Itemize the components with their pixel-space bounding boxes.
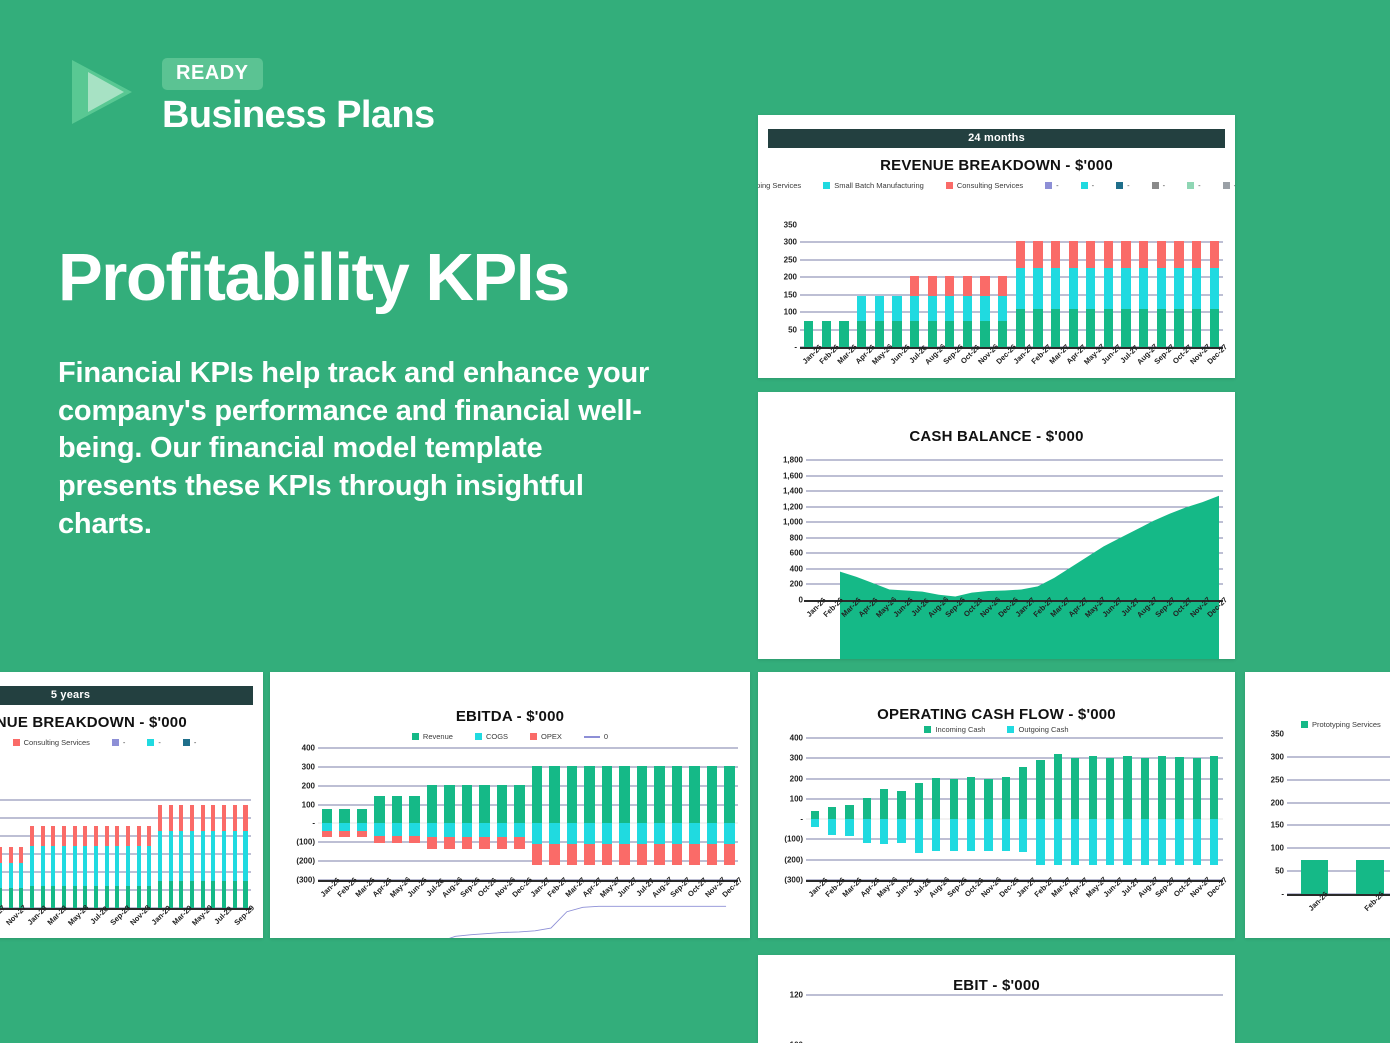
y-axis: -50100150200250300350: [766, 225, 800, 347]
bar-group[interactable]: [1122, 995, 1142, 1043]
bar-segment: [222, 881, 226, 908]
bar-group[interactable]: [1287, 734, 1342, 894]
y-axis-tick: 400: [790, 734, 803, 743]
bar-segment: [839, 321, 848, 347]
bar-segment: [880, 819, 888, 844]
brand-logo-block: READY Business Plans: [72, 58, 435, 136]
x-axis-tick: Aug-26: [926, 602, 943, 642]
bar-plot-region: [318, 748, 738, 880]
x-axis-tick: May-29: [189, 910, 210, 938]
bar-segment: [828, 819, 836, 835]
bar-segment: [863, 819, 871, 843]
bar-segment: [137, 886, 141, 908]
x-axis-tick: Aug-27: [1135, 349, 1153, 378]
bar-segment: [322, 823, 333, 830]
x-axis-tick: Mar-27: [563, 882, 581, 922]
bar-segment: [811, 819, 819, 827]
bar-group[interactable]: [1001, 995, 1021, 1043]
y-axis-tick: -: [1281, 890, 1284, 899]
bar-group[interactable]: [208, 782, 219, 908]
legend-label: 0: [604, 732, 608, 741]
bar-group[interactable]: [27, 782, 38, 908]
x-axis-tick: Oct-26: [961, 602, 978, 642]
x-axis-labels: Jan-26Feb-26Mar-26Apr-26May-26Jun-26Jul-…: [806, 882, 1223, 922]
bar-group[interactable]: [906, 225, 924, 347]
bar-group[interactable]: [1154, 738, 1171, 880]
bar-group[interactable]: [923, 225, 941, 347]
x-axis-tick: Aug-26: [923, 349, 941, 378]
y-axis-tick: 200: [784, 273, 797, 282]
x-axis-tick: Mar-26: [835, 349, 853, 378]
bar-segment: [1174, 241, 1183, 268]
bar-segment: [897, 819, 905, 843]
bar-segment: [915, 819, 923, 852]
brand-name: Business Plans: [162, 96, 435, 136]
bar-group[interactable]: [800, 225, 818, 347]
chart-card-cash-balance[interactable]: CASH BALANCE - $'000 02004006008001,0001…: [758, 392, 1235, 659]
bar-group[interactable]: [16, 782, 27, 908]
bar-group[interactable]: [1029, 225, 1047, 347]
bar-series: [806, 738, 1223, 880]
legend-item: Consulting Services: [13, 738, 90, 747]
bar-segment: [1106, 758, 1114, 819]
bar-segment: [190, 805, 194, 830]
bar-group[interactable]: [318, 748, 336, 880]
bar-segment: [51, 846, 55, 886]
bar-group[interactable]: [101, 782, 112, 908]
x-axis-tick: Feb-26: [823, 882, 840, 922]
x-axis-tick: Nov-28: [127, 910, 148, 938]
bar-segment: [880, 789, 888, 819]
bar-group[interactable]: [59, 782, 70, 908]
bar-group[interactable]: [1135, 225, 1153, 347]
bar-segment: [1089, 819, 1097, 865]
bar-group[interactable]: [1203, 995, 1223, 1043]
legend-swatch-icon: [1301, 721, 1308, 728]
chart-title-operating-cash-flow: OPERATING CASH FLOW - $'000: [758, 672, 1235, 723]
bar-group[interactable]: [841, 738, 858, 880]
y-axis-tick: 1,400: [783, 487, 803, 496]
bar-group[interactable]: [1049, 738, 1066, 880]
bar-group[interactable]: [219, 782, 230, 908]
legend-swatch-icon: [1152, 182, 1159, 189]
x-axis-tick: Nov-26: [493, 882, 511, 922]
bar-group[interactable]: [1062, 995, 1082, 1043]
legend-swatch-icon: [1187, 182, 1194, 189]
bar-group[interactable]: [1021, 995, 1041, 1043]
y-axis-tick: 100: [784, 308, 797, 317]
bar-group[interactable]: [1015, 738, 1032, 880]
bar-segment: [1139, 241, 1148, 268]
bar-group[interactable]: [1101, 738, 1118, 880]
bar-group[interactable]: [1188, 738, 1205, 880]
legend-label: -: [194, 738, 197, 747]
bar-group[interactable]: [48, 782, 59, 908]
legend-swatch-icon: [1116, 182, 1123, 189]
bar-group[interactable]: [155, 782, 166, 908]
bar-segment: [857, 321, 866, 347]
x-axis-tick: Dec-27: [1206, 882, 1223, 922]
x-axis-tick: Sep-27: [1153, 349, 1171, 378]
bar-group[interactable]: [1136, 738, 1153, 880]
legend-label: -: [1056, 181, 1059, 190]
x-axis-tick: May-26: [388, 882, 406, 922]
bar-segment: [51, 826, 55, 846]
x-axis-tick: May-27: [598, 882, 616, 922]
bar-segment: [1192, 309, 1201, 347]
legend-item: -: [1223, 181, 1235, 190]
bar-group[interactable]: [888, 225, 906, 347]
chart-card-prototyping-services-crop[interactable]: Prototyping Services -501001502002503003…: [1245, 672, 1390, 938]
bar-group[interactable]: [1170, 225, 1188, 347]
bar-group[interactable]: [1206, 738, 1223, 880]
bar-group[interactable]: [133, 782, 144, 908]
bar-group[interactable]: [981, 995, 1001, 1043]
bar-segment: [1104, 241, 1113, 268]
bar-group[interactable]: [1082, 225, 1100, 347]
bar-group[interactable]: [197, 782, 208, 908]
bar-segment: [980, 321, 989, 347]
chart-title-ebit: EBIT - $'000: [758, 955, 1235, 994]
y-axis-tick: 120: [790, 991, 803, 1000]
x-axis-tick: Apr-26: [853, 349, 871, 378]
bar-group[interactable]: [123, 782, 134, 908]
x-axis-tick: May-26: [871, 349, 889, 378]
bar-group[interactable]: [806, 738, 823, 880]
bar-group[interactable]: [941, 225, 959, 347]
y-axis-tick: 600: [790, 549, 803, 558]
bar-group[interactable]: [1188, 225, 1206, 347]
x-axis-tick: Aug-26: [441, 882, 459, 922]
bar-segment: [1158, 819, 1166, 865]
bar-group[interactable]: [945, 738, 962, 880]
y-axis-tick: (200): [296, 857, 315, 866]
x-axis-tick: Aug-27: [651, 882, 669, 922]
bar-plot-region: [806, 738, 1223, 880]
bar-group[interactable]: [112, 782, 123, 908]
bar-segment: [915, 783, 923, 819]
bar-group[interactable]: [1032, 738, 1049, 880]
bar-segment: [1210, 241, 1219, 268]
bar-segment: [1301, 860, 1329, 894]
bar-segment: [1157, 268, 1166, 310]
y-axis-tick: -: [794, 343, 797, 352]
bar-group[interactable]: [876, 738, 893, 880]
bar-group[interactable]: [5, 782, 16, 908]
legend-label: Consulting Services: [24, 738, 90, 747]
bar-group[interactable]: [871, 225, 889, 347]
legend-label: Small Batch Manufacturing: [834, 181, 924, 190]
bar-group[interactable]: [853, 225, 871, 347]
bar-segment: [875, 296, 884, 320]
bar-segment: [233, 831, 237, 881]
bar-segment: [94, 826, 98, 846]
bar-group[interactable]: [1047, 225, 1065, 347]
bar-segment: [857, 296, 866, 320]
bar-group[interactable]: [1119, 738, 1136, 880]
x-axis-tick: Oct-27: [686, 882, 704, 922]
y-axis-tick: 50: [1275, 867, 1284, 876]
y-axis-tick: 400: [790, 564, 803, 573]
bar-segment: [1141, 758, 1149, 819]
bar-segment: [963, 296, 972, 320]
y-axis-tick: 300: [1271, 752, 1284, 761]
legend-swatch-icon: [924, 726, 931, 733]
chart-title-cash-balance: CASH BALANCE - $'000: [758, 392, 1235, 445]
y-axis-tick: 200: [790, 774, 803, 783]
x-axis-tick: Sep-26: [458, 882, 476, 922]
legend-swatch-icon: [530, 733, 537, 740]
y-axis: 80100120: [766, 995, 806, 1043]
x-axis-tick: Jan-26: [1287, 896, 1343, 936]
chart-card-operating-cash-flow[interactable]: OPERATING CASH FLOW - $'000 Incoming Cas…: [758, 672, 1235, 938]
x-axis-tick: Jul-29: [210, 910, 231, 938]
bar-group[interactable]: [229, 782, 240, 908]
x-axis-tick: Jun-26: [893, 882, 910, 922]
bar-segment: [998, 321, 1007, 347]
x-axis-tick: May-26: [876, 882, 893, 922]
chart-legend-operating-cash-flow: Incoming CashOutgoing Cash: [758, 723, 1235, 734]
bar-segment: [169, 831, 173, 881]
bar-segment: [1071, 819, 1079, 865]
bar-group[interactable]: [1082, 995, 1102, 1043]
x-axis-tick: Dec-27: [1205, 349, 1223, 378]
bar-group[interactable]: [1042, 995, 1062, 1043]
y-axis-tick: 350: [784, 221, 797, 230]
x-axis-tick: Jul-28: [86, 910, 107, 938]
bar-group[interactable]: [910, 738, 927, 880]
bar-group[interactable]: [165, 782, 176, 908]
legend-item: Outgoing Cash: [1007, 725, 1068, 734]
legend-item: Revenue: [412, 732, 453, 741]
bar-series: [800, 225, 1223, 347]
bar-segment: [1157, 241, 1166, 268]
legend-label: Revenue: [423, 732, 453, 741]
bar-segment: [998, 296, 1007, 320]
bar-group[interactable]: [240, 782, 251, 908]
legend-item: OPEX: [530, 732, 562, 741]
bar-segment: [201, 881, 205, 908]
x-axis-tick: Jun-26: [891, 602, 908, 642]
bar-group[interactable]: [91, 782, 102, 908]
x-axis-tick: Mar-26: [353, 882, 371, 922]
bar-group[interactable]: [928, 738, 945, 880]
legend-swatch-icon: [946, 182, 953, 189]
bar-segment: [1192, 268, 1201, 310]
bar-group[interactable]: [37, 782, 48, 908]
bar-group[interactable]: [1117, 225, 1135, 347]
bar-group[interactable]: [818, 225, 836, 347]
x-axis-tick: Aug-26: [928, 882, 945, 922]
ready-badge: READY: [162, 58, 263, 90]
x-axis-tick: Jan-26: [800, 349, 818, 378]
bar-segment: [94, 886, 98, 908]
x-axis-tick: Nov-27: [1188, 349, 1206, 378]
x-axis-tick: Jul-27: [1119, 882, 1136, 922]
bar-group[interactable]: [1012, 225, 1030, 347]
bar-segment: [9, 847, 13, 863]
bar-segment: [1193, 758, 1201, 819]
x-axis-tick: Feb-27: [1031, 602, 1048, 642]
bar-group[interactable]: [1163, 995, 1183, 1043]
legend-item: -: [1187, 181, 1201, 190]
x-axis-tick: Jul-26: [909, 602, 926, 642]
bar-segment: [945, 276, 954, 296]
x-axis-tick: Feb-27: [1029, 349, 1047, 378]
bar-group[interactable]: [858, 738, 875, 880]
bar-group[interactable]: [80, 782, 91, 908]
bar-segment: [1086, 241, 1095, 268]
area-plot-region: [806, 460, 1223, 600]
y-axis-tick: 50: [788, 325, 797, 334]
bar-group[interactable]: [176, 782, 187, 908]
legend-item: Consulting Services: [946, 181, 1023, 190]
bar-segment: [147, 826, 151, 846]
bar-group[interactable]: [144, 782, 155, 908]
chart-card-revenue-breakdown-24m[interactable]: 24 months REVENUE BREAKDOWN - $'000 Prot…: [758, 115, 1235, 378]
bar-segment: [62, 846, 66, 886]
bar-segment: [1051, 241, 1060, 268]
x-axis-tick: Jul-26: [423, 882, 441, 922]
x-axis-tick: Nov-27: [703, 882, 721, 922]
x-axis-tick: Nov-27: [3, 910, 24, 938]
x-axis-tick: Apr-26: [858, 882, 875, 922]
x-axis-tick: Mar-26: [841, 882, 858, 922]
legend-swatch-icon: [1223, 182, 1230, 189]
bar-segment: [19, 863, 23, 888]
x-axis-tick: Sep-26: [941, 349, 959, 378]
bar-group[interactable]: [893, 738, 910, 880]
legend-swatch-icon: [13, 739, 20, 746]
y-axis-tick: 150: [784, 290, 797, 299]
y-axis-tick: 400: [302, 744, 315, 753]
bar-segment: [147, 846, 151, 886]
legend-item: -: [147, 738, 161, 747]
bar-segment: [41, 846, 45, 886]
legend-label: -: [158, 738, 161, 747]
bar-group[interactable]: [835, 225, 853, 347]
bar-segment: [928, 296, 937, 320]
x-axis-tick: Apr-26: [371, 882, 389, 922]
bar-group[interactable]: [1142, 995, 1162, 1043]
bar-group[interactable]: [980, 738, 997, 880]
legend-label: OPEX: [541, 732, 562, 741]
legend-swatch-icon: [112, 739, 119, 746]
bar-segment: [945, 296, 954, 320]
chart-card-ebit[interactable]: EBIT - $'000 80100120: [758, 955, 1235, 1043]
bar-series: [0, 782, 251, 908]
x-axis-tick: Mar-26: [839, 602, 856, 642]
bar-group[interactable]: [1171, 738, 1188, 880]
bar-segment: [322, 831, 333, 838]
bar-group[interactable]: [959, 225, 977, 347]
bar-group[interactable]: [69, 782, 80, 908]
bar-segment: [1019, 767, 1027, 819]
x-axis-labels: Jan-26Feb-26Mar-26Apr-26May-26Jun-26Jul-…: [804, 602, 1223, 642]
bar-group[interactable]: [1067, 738, 1084, 880]
bar-segment: [201, 805, 205, 830]
bar-group[interactable]: [997, 738, 1014, 880]
bar-segment: [0, 863, 2, 888]
x-axis-tick: Jul-27: [1118, 602, 1135, 642]
chart-card-ebitda[interactable]: EBITDA - $'000 RevenueCOGSOPEX0 (300)(20…: [270, 672, 750, 938]
bar-segment: [1036, 819, 1044, 865]
bar-group[interactable]: [1205, 225, 1223, 347]
y-axis-tick: 350: [1271, 730, 1284, 739]
legend-label: Consulting Services: [957, 181, 1023, 190]
bar-group[interactable]: [187, 782, 198, 908]
bar-segment: [804, 321, 813, 347]
bar-segment: [115, 886, 119, 908]
bar-segment: [1121, 268, 1130, 310]
bar-segment: [201, 831, 205, 881]
x-axis-tick: Apr-27: [581, 882, 599, 922]
x-axis-tick: Jun-26: [888, 349, 906, 378]
bar-group[interactable]: [976, 225, 994, 347]
bar-group[interactable]: [962, 738, 979, 880]
chart-band-5-years: 5 years: [0, 686, 253, 705]
bar-segment: [179, 881, 183, 908]
bar-group[interactable]: [1084, 738, 1101, 880]
chart-card-revenue-breakdown-5y[interactable]: 5 years REVENUE BREAKDOWN - $'000 Small …: [0, 672, 263, 938]
y-axis-tick: 300: [784, 238, 797, 247]
y-axis: (300)(200)(100)-100200300400: [278, 748, 318, 880]
x-axis-labels: Jan-26Feb-26Mar-26Apr-26May-: [1287, 896, 1390, 936]
x-axis-tick: Dec-27: [1205, 602, 1222, 642]
bar-group[interactable]: [823, 738, 840, 880]
bar-group[interactable]: [1183, 995, 1203, 1043]
legend-label: -: [123, 738, 126, 747]
chart-legend-ebitda: RevenueCOGSOPEX0: [270, 725, 750, 741]
y-axis-tick: 1,600: [783, 471, 803, 480]
bar-group[interactable]: [1102, 995, 1122, 1043]
bar-segment: [984, 819, 992, 851]
y-axis-tick: 300: [790, 754, 803, 763]
bar-segment: [1157, 309, 1166, 347]
page-title: Profitability KPIs: [58, 243, 569, 313]
legend-swatch-icon: [475, 733, 482, 740]
x-axis-tick: Dec-26: [994, 349, 1012, 378]
bar-segment: [233, 805, 237, 830]
x-axis-tick: Mar-28: [44, 910, 65, 938]
bar-group[interactable]: [994, 225, 1012, 347]
legend-label: -: [1198, 181, 1201, 190]
bar-group[interactable]: [1342, 734, 1390, 894]
x-axis-tick: Oct-26: [962, 882, 979, 922]
bar-segment: [1210, 756, 1218, 819]
bar-segment: [897, 791, 905, 819]
bar-segment: [233, 881, 237, 908]
bar-segment: [875, 321, 884, 347]
legend-item: -: [1045, 181, 1059, 190]
x-axis-tick: Jun-27: [616, 882, 634, 922]
bar-group[interactable]: [1064, 225, 1082, 347]
x-axis-tick: Dec-26: [996, 602, 1013, 642]
bar-group[interactable]: [1153, 225, 1171, 347]
bar-segment: [1175, 757, 1183, 819]
bar-group[interactable]: [336, 748, 354, 880]
bar-segment: [190, 831, 194, 881]
bar-group[interactable]: [1100, 225, 1118, 347]
x-axis-tick: Aug-27: [1136, 602, 1153, 642]
x-axis-tick: Sep-27: [1153, 602, 1170, 642]
y-axis-tick: 1,200: [783, 502, 803, 511]
x-axis-tick: Jul-27: [633, 882, 651, 922]
y-axis: -50100150200250300350: [1253, 734, 1287, 894]
bar-segment: [1002, 777, 1010, 819]
bar-segment: [967, 777, 975, 819]
x-axis-tick: Jan-26: [318, 882, 336, 922]
